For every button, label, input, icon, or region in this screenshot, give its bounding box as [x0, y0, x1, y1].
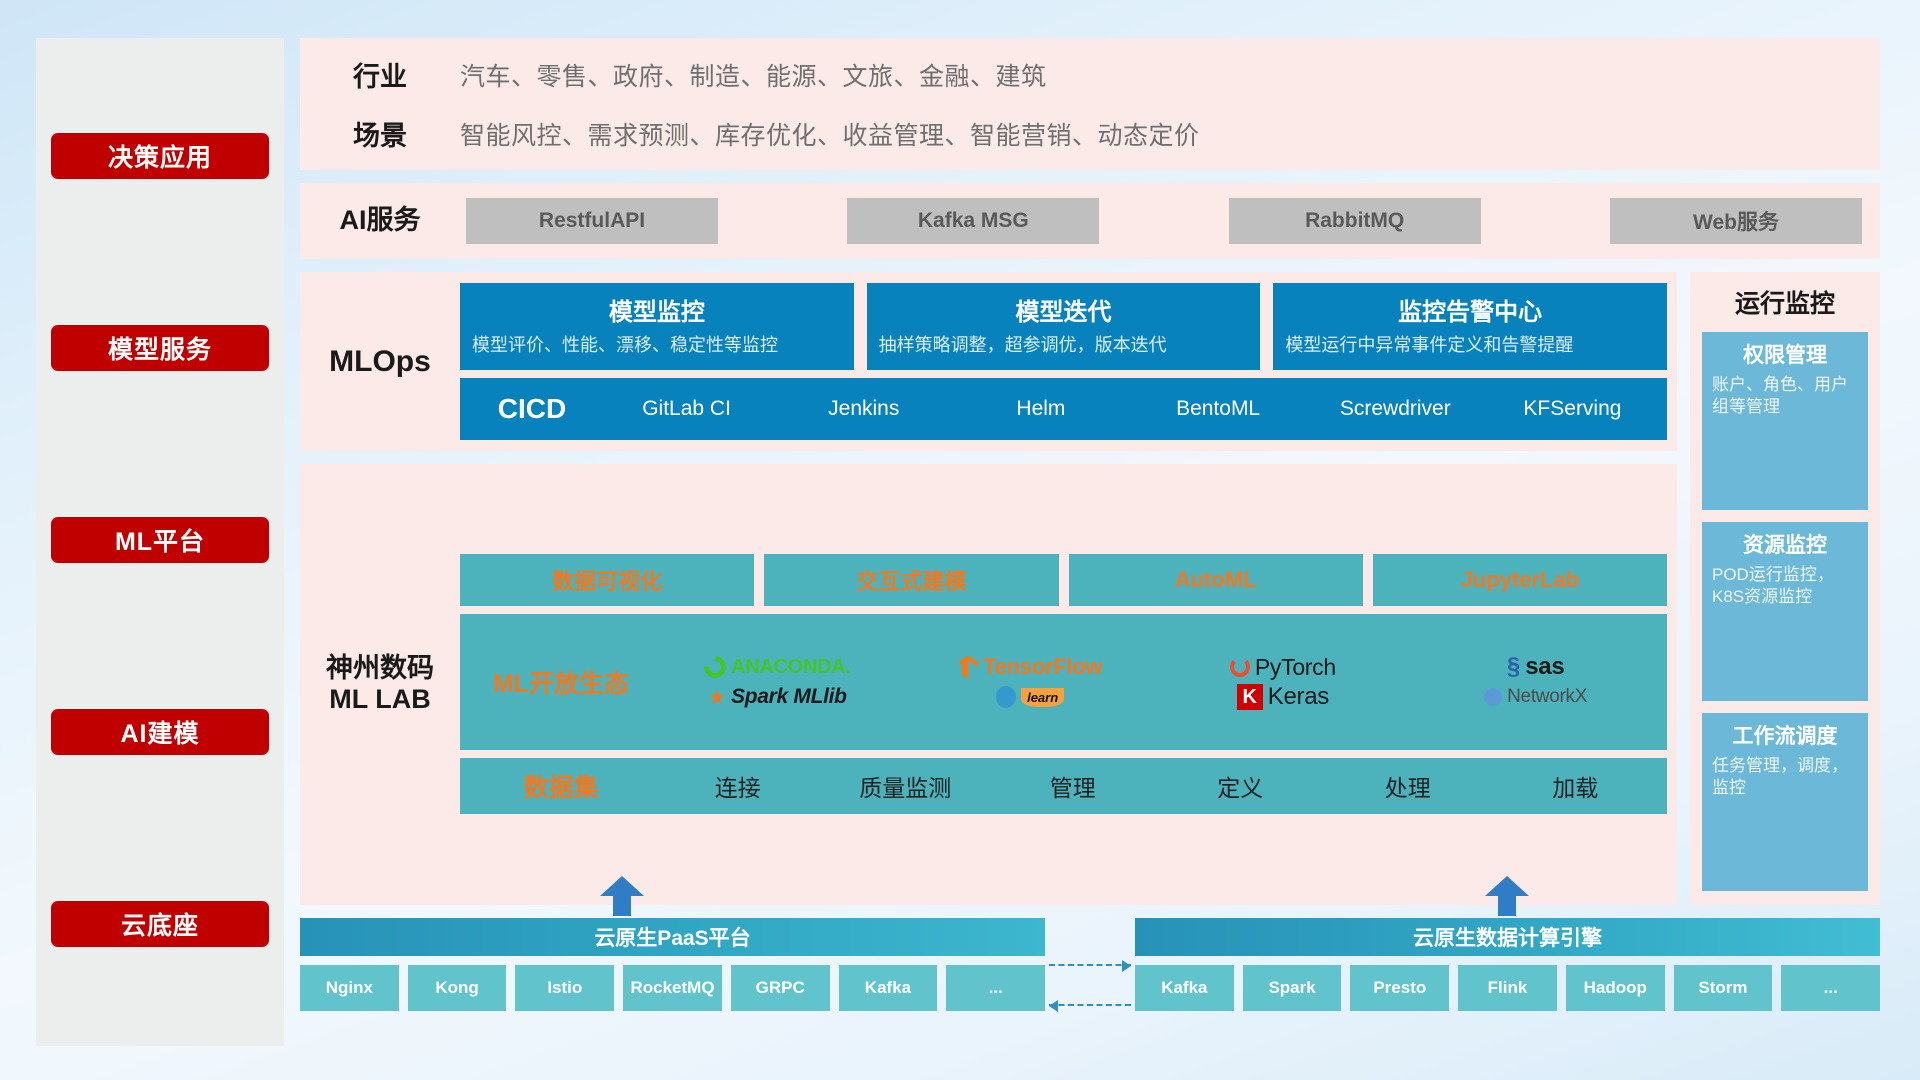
cloud-base-row: 云原生PaaS平台 Nginx Kong Istio RocketMQ GRPC… — [300, 918, 1880, 1046]
sas-swirl-icon: § — [1507, 653, 1520, 681]
mlops-card-model-monitoring[interactable]: 模型监控 模型评价、性能、漂移、稳定性等监控 — [460, 283, 854, 370]
engine-chip-kafka[interactable]: Kafka — [1135, 965, 1234, 1011]
monitor-card-title: 资源监控 — [1712, 529, 1858, 559]
sas-icon: § sas — [1507, 653, 1565, 681]
tensorflow-mark-icon — [958, 655, 978, 679]
paas-column: 云原生PaaS平台 Nginx Kong Istio RocketMQ GRPC… — [300, 918, 1045, 1046]
dataset-item-manage[interactable]: 管理 — [989, 769, 1157, 803]
spark-star-icon: ★ — [708, 685, 726, 710]
ml-ecosystem-label: ML开放生态 — [468, 664, 654, 700]
cicd-bar: CICD GitLab CI Jenkins Helm BentoML Scre… — [460, 378, 1667, 440]
runtime-monitor-title: 运行监控 — [1702, 284, 1868, 320]
pytorch-icon: PyTorch — [1230, 654, 1336, 681]
service-chip-label: Kafka MSG — [918, 209, 1029, 233]
monitor-card-permission[interactable]: 权限管理 账户、角色、用户组等管理 — [1702, 332, 1868, 510]
cicd-item-screwdriver[interactable]: Screwdriver — [1307, 398, 1484, 420]
scikit-learn-logo-text: learn — [1021, 688, 1064, 707]
scikit-learn-icon: learn — [996, 686, 1064, 708]
mlops-card-desc: 模型评价、性能、漂移、稳定性等监控 — [472, 334, 842, 358]
application-band: 行业 汽车、零售、政府、制造、能源、文旅、金融、建筑 场景 智能风控、需求预测、… — [300, 38, 1880, 170]
paas-chip-kong[interactable]: Kong — [408, 965, 507, 1011]
monitor-card-resource[interactable]: 资源监控 POD运行监控，K8S资源监控 — [1702, 522, 1868, 700]
mlops-band: MLOps 模型监控 模型评价、性能、漂移、稳定性等监控 模型迭代 抽样策略调整… — [300, 272, 1677, 451]
paas-chip-istio[interactable]: Istio — [515, 965, 614, 1011]
rail-item-decision[interactable]: 决策应用 — [51, 133, 269, 179]
ai-service-label: AI服务 — [300, 205, 460, 237]
dataset-row: 数据集 连接 质量监测 管理 定义 处理 加载 — [460, 758, 1667, 814]
paas-chip-kafka[interactable]: Kafka — [839, 965, 938, 1011]
rail-item-ai-modeling[interactable]: AI建模 — [51, 709, 269, 755]
tensorflow-logo-text: TensorFlow — [983, 654, 1102, 680]
keras-icon: K Keras — [1237, 683, 1329, 711]
tool-chip-jupyterlab[interactable]: JupyterLab — [1373, 554, 1667, 606]
mlops-card-model-iteration[interactable]: 模型迭代 抽样策略调整，超参调优，版本迭代 — [867, 283, 1261, 370]
anaconda-logo-text: ANACONDA. — [731, 656, 851, 679]
service-chip-label: RestfulAPI — [539, 209, 645, 233]
mlops-card-title: 模型监控 — [472, 292, 842, 327]
spark-mllib-logo-text: Spark MLlib — [731, 685, 847, 709]
architecture-diagram: 决策应用 模型服务 ML平台 AI建模 云底座 行业 汽车、零售、政府、制造、能… — [0, 0, 1920, 1080]
monitor-card-title: 工作流调度 — [1712, 720, 1858, 750]
rail-item-label: ML平台 — [115, 522, 205, 558]
rail-item-label: 模型服务 — [108, 330, 212, 366]
scenario-row: 场景 智能风控、需求预测、库存优化、收益管理、智能营销、动态定价 — [300, 114, 1864, 153]
cicd-item-helm[interactable]: Helm — [952, 398, 1129, 420]
dataset-item-define[interactable]: 定义 — [1157, 769, 1325, 803]
connector-right-arrow — [1049, 964, 1131, 966]
sas-logo-text: sas — [1525, 653, 1564, 681]
dataset-item-load[interactable]: 加载 — [1492, 769, 1660, 803]
cicd-item-bentoml[interactable]: BentoML — [1130, 398, 1307, 420]
service-chip-label: Web服务 — [1693, 206, 1779, 236]
tool-chip-interactive-modeling[interactable]: 交互式建模 — [764, 554, 1058, 606]
monitor-card-workflow[interactable]: 工作流调度 任务管理，调度，监控 — [1702, 713, 1868, 891]
engine-chip-hadoop[interactable]: Hadoop — [1566, 965, 1665, 1011]
ai-service-band: AI服务 RestfulAPI Kafka MSG RabbitMQ Web服务 — [300, 183, 1880, 259]
anaconda-icon: ANACONDA. — [704, 656, 851, 679]
rail-item-ml-platform[interactable]: ML平台 — [51, 517, 269, 563]
dataset-item-process[interactable]: 处理 — [1324, 769, 1492, 803]
paas-chip-grpc[interactable]: GRPC — [731, 965, 830, 1011]
service-chip-kafka-msg[interactable]: Kafka MSG — [847, 198, 1099, 244]
ml-lab-band: 神州数码 ML LAB 数据可视化 交互式建模 AutoML JupyterLa… — [300, 464, 1677, 905]
networkx-logo-text: NetworkX — [1507, 686, 1587, 708]
rail-item-label: AI建模 — [120, 714, 199, 750]
rail-item-cloud-base[interactable]: 云底座 — [51, 901, 269, 947]
paas-up-arrow-icon — [600, 876, 644, 916]
monitor-card-desc: 账户、角色、用户组等管理 — [1712, 374, 1858, 418]
scikit-blob-icon — [996, 686, 1016, 708]
ml-lab-label-line1: 神州数码 — [326, 653, 434, 685]
service-chip-label: RabbitMQ — [1305, 209, 1404, 233]
paas-chip-rocketmq[interactable]: RocketMQ — [623, 965, 722, 1011]
monitor-card-desc: POD运行监控，K8S资源监控 — [1712, 564, 1858, 608]
dataset-item-quality[interactable]: 质量监测 — [822, 769, 990, 803]
industry-value: 汽车、零售、政府、制造、能源、文旅、金融、建筑 — [460, 57, 1047, 93]
ml-ecosystem-row: ML开放生态 ANACONDA. TensorFlow — [460, 614, 1667, 750]
ml-lab-label-line2: ML LAB — [326, 684, 434, 716]
service-chip-restfulapi[interactable]: RestfulAPI — [466, 198, 718, 244]
rail-item-model-service[interactable]: 模型服务 — [51, 325, 269, 371]
cicd-title: CICD — [466, 393, 598, 425]
scenario-key: 场景 — [300, 114, 460, 153]
engine-chip-spark[interactable]: Spark — [1243, 965, 1342, 1011]
monitor-card-desc: 任务管理，调度，监控 — [1712, 755, 1858, 799]
networkx-node-icon — [1484, 688, 1502, 706]
paas-title: 云原生PaaS平台 — [300, 918, 1045, 956]
keras-k-icon: K — [1237, 684, 1263, 710]
paas-chip-more[interactable]: ... — [946, 965, 1045, 1011]
monitor-card-title: 权限管理 — [1712, 339, 1858, 369]
keras-logo-text: Keras — [1268, 683, 1329, 711]
data-engine-up-arrow-icon — [1485, 876, 1529, 916]
tensorflow-icon: TensorFlow — [958, 654, 1102, 680]
data-engine-title: 云原生数据计算引擎 — [1135, 918, 1880, 956]
mlops-card-title: 监控告警中心 — [1285, 292, 1655, 327]
industry-key: 行业 — [300, 55, 460, 94]
service-chip-rabbitmq[interactable]: RabbitMQ — [1229, 198, 1481, 244]
tool-chip-automl[interactable]: AutoML — [1069, 554, 1363, 606]
ml-lab-label: 神州数码 ML LAB — [300, 653, 460, 717]
mlops-card-desc: 模型运行中异常事件定义和告警提醒 — [1285, 334, 1655, 358]
mlops-card-title: 模型迭代 — [879, 292, 1249, 327]
anaconda-ring-icon — [700, 652, 731, 683]
scenario-value: 智能风控、需求预测、库存优化、收益管理、智能营销、动态定价 — [460, 116, 1200, 152]
rail-item-label: 决策应用 — [108, 138, 212, 174]
engine-chip-flink[interactable]: Flink — [1458, 965, 1557, 1011]
engine-chip-more[interactable]: ... — [1781, 965, 1880, 1011]
cicd-item-gitlab-ci[interactable]: GitLab CI — [598, 398, 775, 420]
diagram-stack: 行业 汽车、零售、政府、制造、能源、文旅、金融、建筑 场景 智能风控、需求预测、… — [300, 38, 1880, 1046]
rail-item-label: 云底座 — [121, 906, 199, 942]
paas-chip-nginx[interactable]: Nginx — [300, 965, 399, 1011]
platform-middle: MLOps 模型监控 模型评价、性能、漂移、稳定性等监控 模型迭代 抽样策略调整… — [300, 272, 1880, 905]
pytorch-flame-icon — [1230, 657, 1250, 677]
industry-row: 行业 汽车、零售、政府、制造、能源、文旅、金融、建筑 — [300, 55, 1864, 94]
ml-lab-tool-row: 数据可视化 交互式建模 AutoML JupyterLab — [460, 554, 1667, 606]
mlops-card-alert-center[interactable]: 监控告警中心 模型运行中异常事件定义和告警提醒 — [1273, 283, 1667, 370]
pytorch-logo-text: PyTorch — [1255, 654, 1336, 681]
networkx-icon: NetworkX — [1484, 686, 1587, 708]
engine-chip-presto[interactable]: Presto — [1350, 965, 1449, 1011]
tool-chip-data-visualization[interactable]: 数据可视化 — [460, 554, 754, 606]
layer-rail: 决策应用 模型服务 ML平台 AI建模 云底座 — [36, 38, 284, 1046]
mlops-card-desc: 抽样策略调整，超参调优，版本迭代 — [879, 334, 1249, 358]
dataset-title: 数据集 — [468, 768, 654, 804]
cicd-item-kfserving[interactable]: KFServing — [1484, 398, 1661, 420]
runtime-monitor-panel: 运行监控 权限管理 账户、角色、用户组等管理 资源监控 POD运行监控，K8S资… — [1690, 272, 1880, 905]
cicd-item-jenkins[interactable]: Jenkins — [775, 398, 952, 420]
data-engine-column: 云原生数据计算引擎 Kafka Spark Presto Flink Hadoo… — [1135, 918, 1880, 1046]
mlops-label: MLOps — [300, 344, 460, 379]
dataset-item-connect[interactable]: 连接 — [654, 769, 822, 803]
engine-chip-storm[interactable]: Storm — [1674, 965, 1773, 1011]
service-chip-web[interactable]: Web服务 — [1610, 198, 1862, 244]
connector-left-arrow — [1049, 1004, 1131, 1006]
spark-mllib-icon: ★ Spark MLlib — [708, 685, 847, 710]
cloud-link-connectors — [1045, 918, 1135, 1046]
